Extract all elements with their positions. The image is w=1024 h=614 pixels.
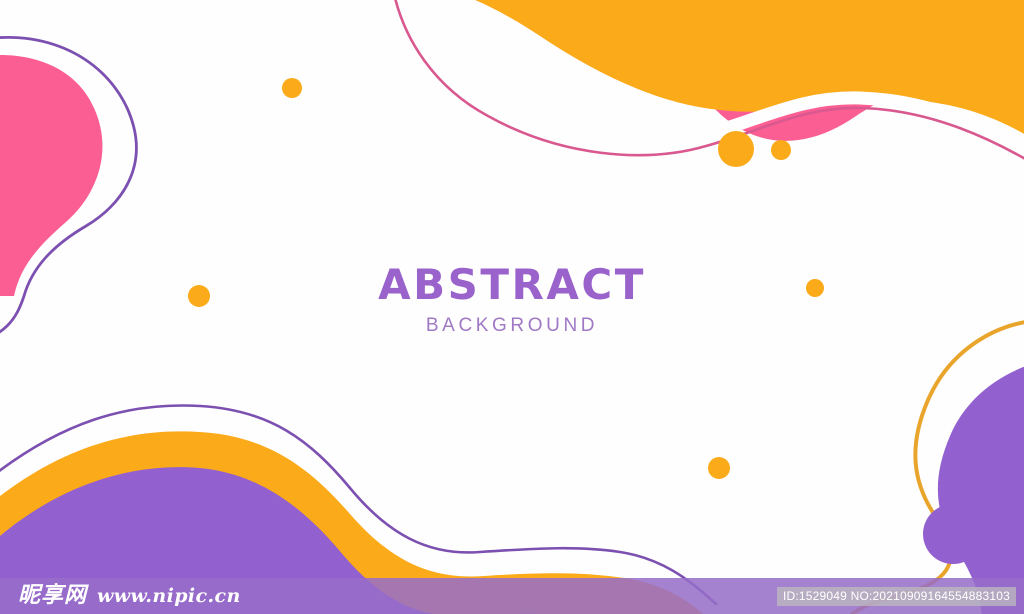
image-id-badge: ID:1529049 NO:20210909164554883103 <box>777 587 1016 606</box>
left-pink-dot-large <box>46 181 76 211</box>
watermark-url: www.nipic.cn <box>97 585 241 607</box>
orange-dot-3 <box>718 131 754 167</box>
watermark-logo: 昵享网 <box>18 584 87 608</box>
orange-dot-5 <box>806 279 824 297</box>
bottom-right-purple-dot <box>923 504 983 564</box>
orange-dot-2 <box>188 285 210 307</box>
left-pink-dot-small <box>38 217 52 231</box>
orange-dot-4 <box>771 140 791 160</box>
abstract-background-artwork <box>0 0 1024 614</box>
image-canvas: ABSTRACT BACKGROUND 昵享网 www.nipic.cn ID:… <box>0 0 1024 614</box>
orange-dot-1 <box>282 78 302 98</box>
orange-dot-6 <box>708 457 730 479</box>
